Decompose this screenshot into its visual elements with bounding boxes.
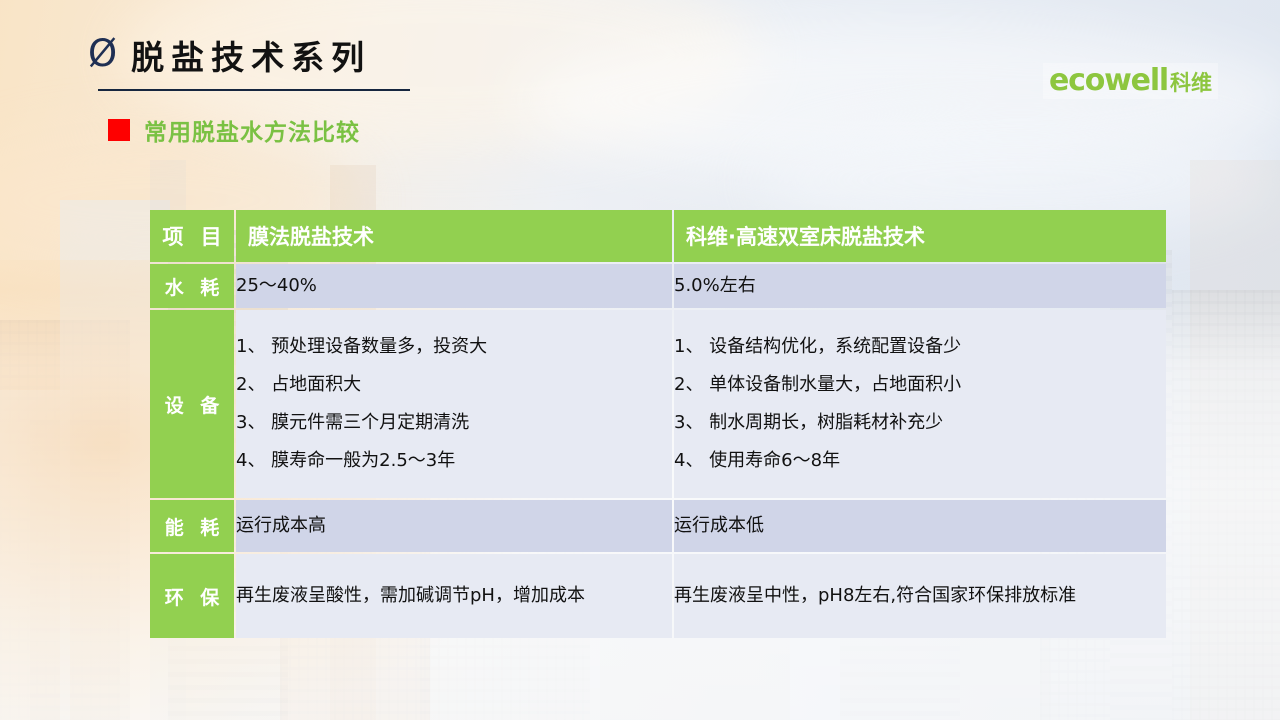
subtitle-row: 常用脱盐水方法比较 (108, 113, 608, 147)
cell-water-membrane: 25～40% (236, 264, 672, 308)
header-cell-ecowell: 科维·高速双室床脱盐技术 (674, 210, 1166, 262)
table-row: 设 备 1、 预处理设备数量多，投资大 2、 占地面积大 3、 膜元件需三个月定… (150, 310, 1166, 498)
list-item: 4、 使用寿命6～8年 (674, 442, 1166, 480)
list-item: 2、 占地面积大 (236, 366, 672, 404)
list-item: 1、 设备结构优化，系统配置设备少 (674, 328, 1166, 366)
slide-header: Ø 脱盐技术系列 常用脱盐水方法比较 (88, 30, 608, 147)
cell-water-ecowell: 5.0%左右 (674, 264, 1166, 308)
slashed-circle-icon: Ø (88, 35, 117, 76)
list-item: 4、 膜寿命一般为2.5～3年 (236, 442, 672, 480)
table-row: 水 耗 25～40% 5.0%左右 (150, 264, 1166, 308)
title-row: Ø 脱盐技术系列 (88, 30, 608, 80)
cell-energy-ecowell: 运行成本低 (674, 500, 1166, 552)
logo-chinese-name: 科维 (1170, 73, 1212, 94)
cell-energy-membrane: 运行成本高 (236, 500, 672, 552)
list-item: 3、 制水周期长，树脂耗材补充少 (674, 404, 1166, 442)
row-label-equipment: 设 备 (150, 310, 234, 498)
row-label-environment: 环 保 (150, 554, 234, 638)
cell-environment-membrane: 再生废液呈酸性，需加碱调节pH，增加成本 (236, 554, 672, 638)
page-title: 脱盐技术系列 (131, 31, 371, 79)
equipment-ecowell-list: 1、 设备结构优化，系统配置设备少 2、 单体设备制水量大，占地面积小 3、 制… (674, 328, 1166, 480)
table-row: 环 保 再生废液呈酸性，需加碱调节pH，增加成本 再生废液呈中性，pH8左右,符… (150, 554, 1166, 638)
cell-environment-ecowell: 再生废液呈中性，pH8左右,符合国家环保排放标准 (674, 554, 1166, 638)
table-row: 能 耗 运行成本高 运行成本低 (150, 500, 1166, 552)
slide: Ø 脱盐技术系列 常用脱盐水方法比较 ecowell 科维 项 目 膜法脱盐技术 (0, 0, 1280, 720)
table-header-row: 项 目 膜法脱盐技术 科维·高速双室床脱盐技术 (150, 210, 1166, 262)
brand-logo: ecowell 科维 (1043, 63, 1218, 99)
row-label-energy: 能 耗 (150, 500, 234, 552)
title-divider (98, 89, 410, 91)
row-label-water: 水 耗 (150, 264, 234, 308)
cell-equipment-membrane: 1、 预处理设备数量多，投资大 2、 占地面积大 3、 膜元件需三个月定期清洗 … (236, 310, 672, 498)
list-item: 1、 预处理设备数量多，投资大 (236, 328, 672, 366)
equipment-membrane-list: 1、 预处理设备数量多，投资大 2、 占地面积大 3、 膜元件需三个月定期清洗 … (236, 328, 672, 480)
header-cell-membrane: 膜法脱盐技术 (236, 210, 672, 262)
list-item: 3、 膜元件需三个月定期清洗 (236, 404, 672, 442)
comparison-table-wrapper: 项 目 膜法脱盐技术 科维·高速双室床脱盐技术 水 耗 25～40% 5.0%左… (148, 208, 1168, 640)
red-square-bullet-icon (108, 119, 130, 141)
list-item: 2、 单体设备制水量大，占地面积小 (674, 366, 1166, 404)
page-subtitle: 常用脱盐水方法比较 (144, 113, 360, 147)
cell-equipment-ecowell: 1、 设备结构优化，系统配置设备少 2、 单体设备制水量大，占地面积小 3、 制… (674, 310, 1166, 498)
comparison-table: 项 目 膜法脱盐技术 科维·高速双室床脱盐技术 水 耗 25～40% 5.0%左… (148, 208, 1168, 640)
header-cell-item: 项 目 (150, 210, 234, 262)
logo-wordmark: ecowell (1049, 66, 1168, 96)
